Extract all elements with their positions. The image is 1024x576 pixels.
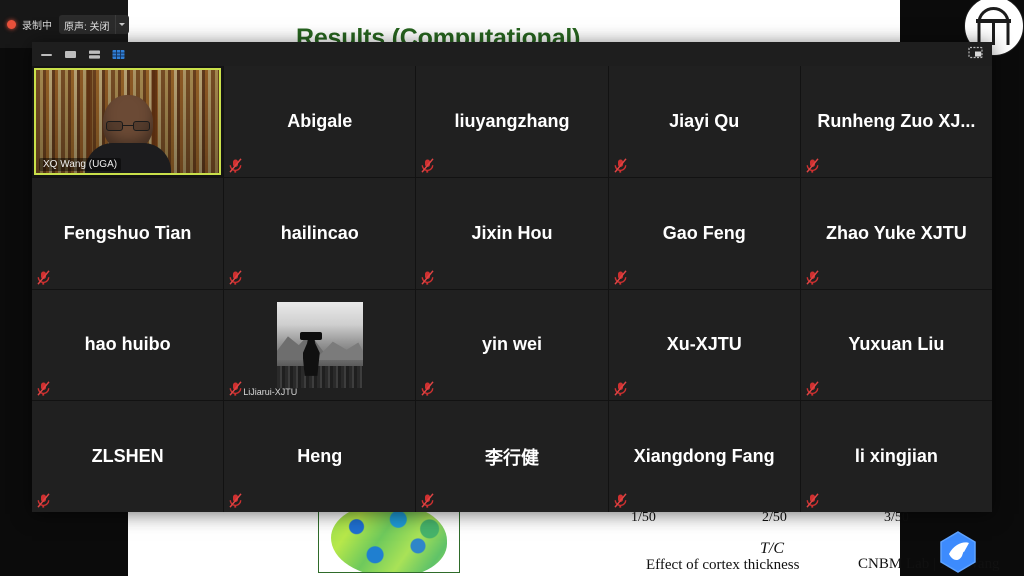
mic-muted-icon xyxy=(806,381,819,396)
grid-view-icon[interactable] xyxy=(111,48,126,61)
brain-blob xyxy=(331,505,447,573)
participant-tile[interactable]: li xingjian xyxy=(801,401,992,512)
participant-name-label: Jiayi Qu xyxy=(663,111,745,132)
mic-muted-icon xyxy=(614,381,627,396)
participant-tile[interactable]: Heng xyxy=(224,401,415,512)
mic-muted-icon xyxy=(229,158,242,173)
participant-tile[interactable]: XQ Wang (UGA) xyxy=(32,66,223,177)
participant-gallery-panel: XQ Wang (UGA)Abigale liuyangzhang Jiayi … xyxy=(32,42,992,512)
participant-name-label: liuyangzhang xyxy=(448,111,575,132)
axis-tick-3: 3/50 xyxy=(884,510,909,526)
participant-name-label: li xingjian xyxy=(849,446,944,467)
mic-muted-icon xyxy=(229,270,242,285)
participant-name-label: hailincao xyxy=(275,223,365,244)
mic-muted-icon xyxy=(806,158,819,173)
axis-tick-2: 2/50 xyxy=(762,510,787,526)
recording-dot-icon xyxy=(7,20,16,29)
participant-tile[interactable]: Xiangdong Fang xyxy=(609,401,800,512)
participant-tile[interactable]: Runheng Zuo XJ... xyxy=(801,66,992,177)
participant-tile[interactable]: Jixin Hou xyxy=(416,178,607,289)
participant-name-label: XQ Wang (UGA) xyxy=(39,158,121,171)
participant-avatar-image xyxy=(277,302,363,388)
participant-name-label: 李行健 xyxy=(479,444,545,470)
mic-muted-icon xyxy=(421,158,434,173)
mic-muted-icon xyxy=(421,493,434,508)
mic-muted-icon xyxy=(421,270,434,285)
mic-muted-icon xyxy=(37,381,50,396)
mic-muted-icon xyxy=(806,493,819,508)
participant-tile[interactable]: ZLSHEN xyxy=(32,401,223,512)
participant-tile[interactable]: hao huibo xyxy=(32,290,223,401)
participant-name-label: Jixin Hou xyxy=(465,223,558,244)
blue-bird-hexagon-icon xyxy=(938,530,978,574)
participant-name-label: Gao Feng xyxy=(657,223,752,244)
mic-muted-icon xyxy=(421,381,434,396)
mic-muted-icon xyxy=(614,270,627,285)
participant-tile[interactable]: Jiayi Qu xyxy=(609,66,800,177)
mic-muted-icon xyxy=(806,270,819,285)
participant-tile[interactable]: LiJiarui-XJTU xyxy=(224,290,415,401)
audio-source-value: 原声: 关闭 xyxy=(59,15,115,34)
single-view-icon[interactable] xyxy=(63,48,78,61)
participant-name-label: LiJiarui-XJTU xyxy=(243,387,297,397)
participant-tile[interactable]: hailincao xyxy=(224,178,415,289)
participant-tile[interactable]: 李行健 xyxy=(416,401,607,512)
participant-name-label: Zhao Yuke XJTU xyxy=(820,223,973,244)
minimize-view-icon[interactable] xyxy=(39,48,54,61)
participant-tile[interactable]: yin wei xyxy=(416,290,607,401)
participant-tile[interactable]: Zhao Yuke XJTU xyxy=(801,178,992,289)
axis-symbol: T/C xyxy=(760,540,784,558)
mic-muted-icon xyxy=(229,381,242,396)
chevron-down-icon[interactable] xyxy=(115,15,129,34)
participant-tile[interactable]: Xu-XJTU xyxy=(609,290,800,401)
participant-name-label: Heng xyxy=(291,446,348,467)
recording-label: 录制中 xyxy=(22,17,52,32)
active-speaker-video: XQ Wang (UGA) xyxy=(34,68,221,175)
participant-name-label: ZLSHEN xyxy=(86,446,170,467)
participant-name-label: Fengshuo Tian xyxy=(58,223,198,244)
mic-muted-icon xyxy=(614,158,627,173)
mic-muted-icon xyxy=(614,493,627,508)
participant-tile[interactable]: Fengshuo Tian xyxy=(32,178,223,289)
participant-name-label: Abigale xyxy=(281,111,358,132)
recording-status-bar: 录制中 原声: 关闭 xyxy=(0,0,128,48)
split-view-icon[interactable] xyxy=(87,48,102,61)
participant-tile[interactable]: liuyangzhang xyxy=(416,66,607,177)
participant-tile[interactable]: Abigale xyxy=(224,66,415,177)
brain-mesh-figure xyxy=(318,505,460,573)
participant-tile[interactable]: Gao Feng xyxy=(609,178,800,289)
axis-tick-1: 1/50 xyxy=(631,510,656,526)
participant-name-label: Runheng Zuo XJ... xyxy=(811,111,981,132)
picture-in-picture-icon[interactable] xyxy=(968,46,983,59)
participant-name-label: Xiangdong Fang xyxy=(628,446,781,467)
participant-tiles-grid: XQ Wang (UGA)Abigale liuyangzhang Jiayi … xyxy=(32,66,992,512)
mic-muted-icon xyxy=(37,270,50,285)
participant-tile[interactable]: Yuxuan Liu xyxy=(801,290,992,401)
mic-muted-icon xyxy=(37,493,50,508)
audio-source-dropdown[interactable]: 原声: 关闭 xyxy=(59,15,129,34)
axis-caption: Effect of cortex thickness xyxy=(646,557,799,574)
participant-name-label: Yuxuan Liu xyxy=(842,334,950,355)
slide-footer: CNBM Lab | XQ Wang xyxy=(858,556,1000,573)
mic-muted-icon xyxy=(229,493,242,508)
participant-name-label: hao huibo xyxy=(79,334,177,355)
participant-name-label: Xu-XJTU xyxy=(661,334,748,355)
participant-name-label: yin wei xyxy=(476,334,548,355)
gallery-toolbar xyxy=(32,42,992,66)
